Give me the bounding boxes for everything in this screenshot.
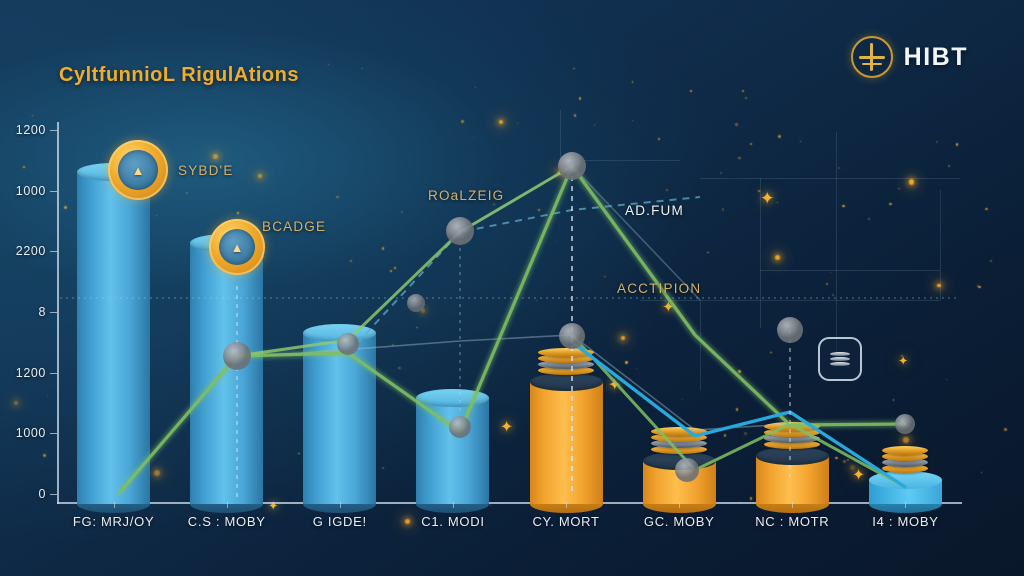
- star-dot: [405, 519, 410, 524]
- y-axis-tick: [50, 373, 57, 374]
- y-axis-tick-label: 1200: [16, 123, 46, 137]
- bar-8[interactable]: [869, 471, 942, 504]
- star-dot: [23, 166, 25, 168]
- y-axis-tick-label: 8: [38, 305, 46, 319]
- anno-roalzeib: ROaLZEIG: [428, 188, 504, 203]
- bar-cap: [303, 324, 376, 342]
- x-axis-tick-label: GC. MOBY: [644, 514, 715, 529]
- star-dot: [361, 68, 363, 70]
- coin-stack-icon-bar-7: [764, 423, 820, 449]
- bar-7[interactable]: [756, 447, 829, 504]
- anno-sybde: SYBD'E: [178, 163, 234, 178]
- y-axis: [57, 122, 59, 504]
- y-axis-tick: [50, 433, 57, 434]
- star-dot: [985, 208, 987, 210]
- bar-5[interactable]: [530, 373, 603, 504]
- bar-body: [303, 333, 376, 504]
- star-dot: [690, 90, 692, 92]
- coin-stack-icon-bar-8: [882, 447, 928, 473]
- star-dot: [14, 401, 18, 405]
- star-dot: [573, 68, 574, 69]
- brand-logo: HIBT: [851, 36, 968, 78]
- star-dot: [43, 454, 45, 456]
- coin-stack-icon-bar-5: [538, 349, 594, 375]
- y-axis-tick: [50, 494, 57, 495]
- x-axis-tick: [566, 502, 567, 508]
- page-title: CyltfunnioL RigulAtions: [59, 64, 299, 87]
- y-axis-tick-label: 1000: [16, 426, 46, 440]
- logo-wordmark: HIBT: [904, 43, 968, 72]
- y-axis-tick-label: 0: [38, 487, 46, 501]
- x-axis-tick-label: CY. MORT: [532, 514, 599, 529]
- x-axis-tick-label: C.S : MOBY: [188, 514, 266, 529]
- y-axis-tick-label: 1000: [16, 184, 46, 198]
- y-axis-tick-label: 2200: [16, 244, 46, 258]
- anno-acctipion: ACCTIPION: [617, 281, 701, 296]
- bar-4[interactable]: [416, 389, 489, 504]
- y-axis-tick-label: 1200: [16, 366, 46, 380]
- x-axis-tick-label: NC : MOTR: [755, 514, 829, 529]
- star-dot: [47, 395, 48, 396]
- star-dot: [745, 97, 748, 100]
- x-axis-tick-label: C1. MODI: [421, 514, 484, 529]
- x-axis-tick: [453, 502, 454, 508]
- x-axis-tick: [679, 502, 680, 508]
- x-axis-tick-label: I4 : MOBY: [872, 514, 938, 529]
- bar-cap: [756, 447, 829, 465]
- bar-3[interactable]: [303, 324, 376, 504]
- chart-screenshot: ✦✦✦✦✦✦✦✦ CyltfunnioL RigulAtions HIBT 12…: [0, 0, 1024, 576]
- bar-body: [190, 243, 263, 504]
- y-axis-tick: [50, 312, 57, 313]
- coin-stack-icon-bar-6: [651, 428, 707, 454]
- star-dot: [977, 285, 979, 287]
- coin-stack-icon: [830, 352, 850, 367]
- bar-body: [530, 382, 603, 504]
- star-dot: [632, 81, 633, 82]
- bar-cap: [643, 452, 716, 470]
- plot-area: 1200100022008120010000 FG: MRJ/OYC.S : M…: [57, 122, 962, 504]
- bar-1[interactable]: [77, 163, 150, 504]
- x-axis-tick-label: FG: MRJ/OY: [73, 514, 154, 529]
- star-dot: [490, 505, 492, 507]
- x-axis-tick: [227, 502, 228, 508]
- coin-icon-1: ▲: [108, 140, 168, 200]
- star-dot: [32, 115, 33, 116]
- bar-cap: [530, 373, 603, 391]
- star-dot: [990, 260, 992, 262]
- y-axis-tick: [50, 191, 57, 192]
- x-axis-tick: [114, 502, 115, 508]
- star-dot: [742, 90, 744, 92]
- bar-6[interactable]: [643, 452, 716, 504]
- coin-stack-badge[interactable]: [818, 337, 862, 381]
- star-dot: [981, 472, 982, 473]
- coin-emblem-icon: [851, 36, 893, 78]
- star-dot: [574, 114, 576, 116]
- star-dot: [475, 87, 476, 88]
- bar-body: [416, 398, 489, 504]
- x-axis-tick: [340, 502, 341, 508]
- star-dot: [328, 64, 329, 65]
- coin-icon-2: ▲: [209, 219, 265, 275]
- x-axis-tick-label: G IGDE!: [313, 514, 367, 529]
- x-axis-tick: [792, 502, 793, 508]
- anno-adfum: AD.FUM: [625, 203, 684, 218]
- star-dot: [978, 286, 980, 288]
- anno-bcadge: BCADGE: [262, 219, 326, 234]
- star-dot: [1004, 428, 1007, 431]
- bar-body: [77, 172, 150, 504]
- y-axis-tick: [50, 130, 57, 131]
- x-axis-tick: [905, 502, 906, 508]
- star-dot: [579, 97, 582, 100]
- y-axis-tick: [50, 251, 57, 252]
